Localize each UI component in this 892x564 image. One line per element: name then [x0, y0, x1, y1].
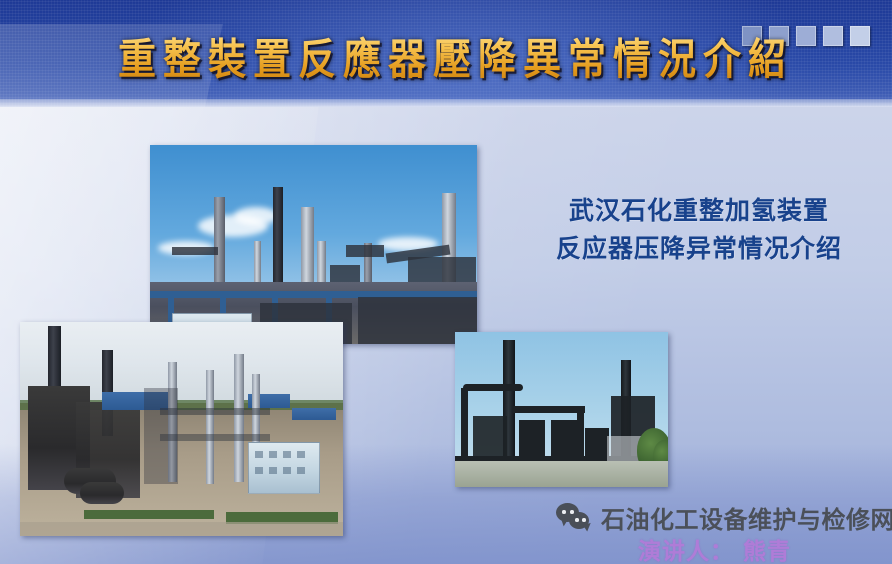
transfer-line	[513, 406, 585, 413]
window	[269, 467, 277, 474]
cloud	[234, 207, 278, 225]
banner-bottom-edge	[0, 99, 892, 107]
watermark-text: 石油化工设备维护与检修网	[601, 500, 892, 535]
photo-refinery-top	[150, 145, 477, 344]
wechat-icon	[556, 503, 592, 532]
transfer-line	[577, 410, 584, 458]
office-building	[248, 442, 320, 494]
decor-square-5	[850, 26, 870, 46]
wechat-eye	[562, 510, 566, 514]
wechat-bubble-tail	[583, 523, 593, 532]
structure	[346, 245, 384, 257]
wechat-eye	[575, 518, 579, 522]
transfer-line	[463, 384, 523, 391]
header-banner: 重整裝置反應器壓降異常情況介紹	[0, 0, 892, 107]
window	[297, 467, 305, 474]
distillation-tower	[206, 370, 214, 484]
subtitle-line-2: 反应器压降异常情况介绍	[524, 230, 874, 268]
subtitle-line-1: 武汉石化重整加氢装置	[524, 192, 874, 230]
photo-furnace	[455, 332, 668, 487]
decor-square-4	[823, 26, 843, 46]
distillation-tower	[234, 354, 244, 482]
road	[20, 522, 343, 536]
window	[255, 451, 263, 458]
window	[255, 467, 263, 474]
presentation-slide: 重整裝置反應器壓降異常情況介紹	[0, 0, 892, 564]
photo-ground	[455, 461, 668, 487]
photo-refinery-aerial	[20, 322, 343, 536]
window	[269, 451, 277, 458]
window	[283, 467, 291, 474]
banner-title: 重整裝置反應器壓降異常情況介紹	[118, 25, 793, 87]
structure	[172, 247, 218, 255]
site-watermark: 石油化工设备维护与检修网	[556, 500, 892, 535]
hedge-row	[84, 510, 214, 519]
slide-subtitle: 武汉石化重整加氢装置 反应器压降异常情况介绍	[524, 192, 874, 268]
decor-square-3	[796, 26, 816, 46]
wechat-bubble-tail	[558, 517, 568, 527]
transfer-line	[461, 388, 468, 458]
chimney-stack	[273, 187, 283, 292]
window	[297, 451, 305, 458]
presenter-label: 演讲人： 熊青	[638, 532, 791, 564]
structure	[144, 388, 178, 484]
blue-roof-building	[292, 408, 336, 420]
chimney-stack	[214, 197, 225, 289]
window	[283, 451, 291, 458]
ducting	[80, 482, 124, 504]
wechat-eye	[570, 510, 574, 514]
wechat-eye	[582, 518, 586, 522]
